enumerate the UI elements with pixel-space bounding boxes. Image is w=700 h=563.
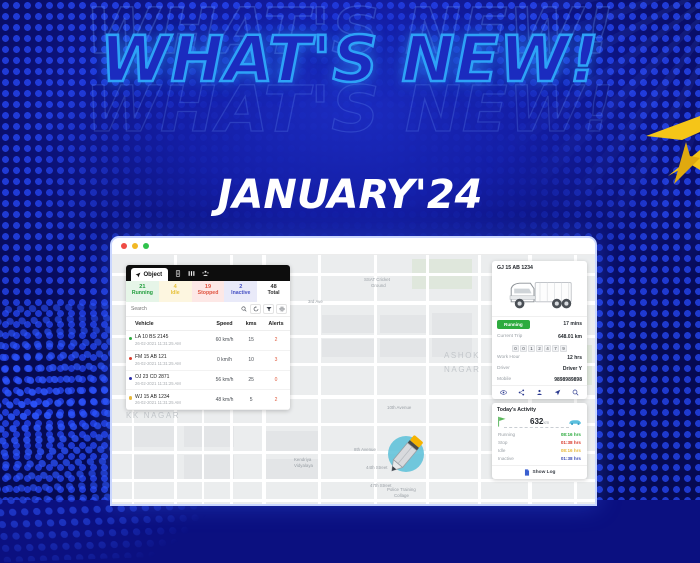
kms-cell: 25	[240, 370, 262, 390]
window-titlebar	[112, 238, 595, 255]
map-label: 3rd Ave	[308, 299, 323, 304]
todays-activity-card: Today's Activity 632km Ru	[492, 403, 587, 479]
map-label: SSAT Cricket	[364, 277, 390, 282]
status-badge: Running	[497, 320, 530, 329]
activity-row-label: Stop	[498, 440, 507, 445]
odometer-digit: 4	[544, 345, 551, 353]
vehicle-table-body: LA 10 BS 2145 26-02-2021 11:31:25 AM 60 …	[126, 331, 290, 410]
odometer-digit: 1	[528, 345, 535, 353]
map-block	[262, 431, 318, 451]
vehicle-name: LA 10 BS 2145	[135, 334, 207, 341]
lightning-bolt-icon	[634, 98, 700, 184]
refresh-icon[interactable]	[250, 304, 261, 314]
status-label: Inactive	[224, 290, 257, 297]
tab-object-label: Object	[144, 272, 163, 278]
col-vehicle: Vehicle	[126, 317, 209, 331]
status-label: Total	[257, 290, 290, 297]
kms-cell: 15	[240, 331, 262, 351]
kms-cell: 10	[240, 350, 262, 370]
map-block	[380, 339, 426, 357]
window-maximize-button[interactable]	[143, 243, 149, 249]
odometer-digit: 9	[560, 345, 567, 353]
status-dot	[129, 357, 132, 360]
activity-row: Running 08:16 hrs	[492, 430, 587, 438]
status-count: 2	[224, 284, 257, 291]
work-hour-value: 12 hrs	[567, 355, 582, 361]
driver-label: Driver	[497, 366, 510, 372]
driver-value: Driver Y	[563, 366, 582, 372]
search-row	[126, 302, 290, 317]
vehicle-name: OJ 23 CD 2871	[135, 374, 207, 381]
speed-cell: 56 km/h	[209, 370, 241, 390]
status-dot	[129, 396, 132, 399]
activity-distance-value: 632	[530, 417, 543, 426]
map-road	[112, 499, 595, 502]
vehicle-detail-card: GJ 15 AB 1234	[492, 261, 587, 399]
speed-cell: 60 km/h	[209, 331, 241, 351]
status-dot	[129, 337, 132, 340]
hero-title-echo-bottom: WHAT'S NEW!	[0, 78, 700, 141]
vehicle-timestamp: 26-02-2021 11:31:25 AM	[135, 400, 207, 406]
status-dot	[129, 377, 132, 380]
map-label: Vidyalaya	[294, 463, 313, 468]
status-count: 19	[192, 284, 225, 291]
status-label: Running	[126, 290, 159, 297]
map-label: KK NAGAR	[126, 411, 180, 420]
odometer-display: 0012479	[492, 343, 587, 353]
odometer-digit: 0	[512, 345, 519, 353]
map-road	[478, 255, 481, 506]
vehicle-cell: WJ 15 AB 1234 26-02-2021 11:31:25 AM	[126, 390, 209, 410]
window-close-button[interactable]	[121, 243, 127, 249]
status-idle[interactable]: 4 Idle	[159, 281, 192, 302]
activity-row-value: 01:38 hrs	[561, 456, 581, 461]
col-speed: Speed	[209, 317, 241, 331]
settings-icon[interactable]	[276, 304, 287, 314]
truck-image	[492, 272, 587, 316]
person-icon[interactable]	[536, 389, 543, 396]
status-label: Stopped	[192, 290, 225, 297]
mobile-row: Mobile 9898989898	[492, 374, 587, 385]
hero-title-block: WHAT'S NEW! WHAT'S NEW! WHAT'S NEW!	[0, 28, 700, 91]
map-block	[132, 425, 176, 447]
activity-progress: 632km	[492, 415, 587, 430]
activity-row-label: Inactive	[498, 456, 514, 461]
map-block	[380, 315, 426, 333]
odometer-digit: 0	[520, 345, 527, 353]
people-icon[interactable]	[202, 270, 209, 277]
show-log-button[interactable]: Show Log	[492, 465, 587, 479]
map-label: Collage	[394, 493, 409, 498]
map-label: 10th Avenue	[387, 405, 411, 410]
columns-icon[interactable]	[188, 270, 195, 277]
speed-cell: 0 km/h	[209, 350, 241, 370]
activity-row-value: 01:38 hrs	[561, 440, 581, 445]
window-minimize-button[interactable]	[132, 243, 138, 249]
map-road	[318, 255, 321, 506]
col-alerts: Alerts	[262, 317, 290, 331]
table-header-row: Vehicle Speed kms Alerts	[126, 317, 290, 331]
current-trip-value: 648.01 km	[558, 334, 582, 340]
status-count: 4	[159, 284, 192, 291]
table-row[interactable]: OJ 23 CD 2871 26-02-2021 11:31:25 AM 56 …	[126, 370, 290, 390]
speed-cell: 48 km/h	[209, 390, 241, 410]
hero-subtitle-month: JANUARY'24	[0, 172, 700, 218]
alerts-cell: 0	[262, 370, 290, 390]
vehicle-actions-row	[492, 385, 587, 399]
map-label: Kendriya	[294, 457, 311, 462]
vehicle-table: Vehicle Speed kms Alerts LA 10 BS 2145 2…	[126, 317, 290, 410]
navigate-icon[interactable]	[554, 389, 561, 396]
activity-row-value: 08:16 hrs	[561, 448, 581, 453]
search-icon[interactable]	[239, 304, 248, 314]
activity-distance: 632km	[530, 417, 549, 426]
zoom-icon[interactable]	[572, 389, 579, 396]
status-inactive[interactable]: 2 Inactive	[224, 281, 257, 302]
pencil-icon	[380, 430, 432, 482]
activity-distance-unit: km	[543, 420, 549, 425]
work-hour-label: Work Hour	[497, 355, 520, 361]
car-icon	[568, 418, 582, 426]
tab-object[interactable]: Object	[131, 268, 168, 281]
laptop-mockup: 16th Street 3rd Ave SSAT Cricket Ground …	[110, 236, 597, 506]
search-input[interactable]	[129, 306, 237, 312]
navigation-icon	[135, 272, 141, 278]
filter-icon[interactable]	[263, 304, 274, 314]
map-block	[132, 455, 176, 479]
vehicle-status-row: Running 17 mins	[492, 316, 587, 332]
driver-row: Driver Driver Y	[492, 363, 587, 374]
current-trip-label: Current Trip	[497, 334, 522, 340]
document-icon	[524, 469, 530, 476]
alerts-cell: 2	[262, 390, 290, 410]
map-block	[184, 455, 234, 479]
activity-row-value: 08:16 hrs	[561, 432, 581, 437]
odometer-digit: 7	[552, 345, 559, 353]
mobile-label: Mobile	[497, 377, 511, 383]
kms-cell: 5	[240, 390, 262, 410]
activity-row: Idle 08:16 hrs	[492, 446, 587, 454]
activity-title: Today's Activity	[492, 403, 587, 415]
show-log-label: Show Log	[533, 470, 556, 475]
table-row[interactable]: LA 10 BS 2145 26-02-2021 11:31:25 AM 60 …	[126, 331, 290, 351]
share-icon[interactable]	[518, 389, 525, 396]
map-label: Police Training	[387, 487, 416, 492]
map-label: 8th Avenue	[354, 447, 376, 452]
vehicle-cell: LA 10 BS 2145 26-02-2021 11:31:25 AM	[126, 331, 209, 351]
status-count: 21	[126, 284, 159, 291]
work-hour-row: Work Hour 12 hrs	[492, 352, 587, 363]
map-label: ASHOK	[444, 351, 480, 360]
flag-icon	[497, 416, 507, 427]
activity-row-label: Running	[498, 432, 515, 437]
map-label: Ground	[371, 283, 386, 288]
status-running[interactable]: 21 Running	[126, 281, 159, 302]
vehicle-cell: OJ 23 CD 2871 26-02-2021 11:31:25 AM	[126, 370, 209, 390]
map-road	[202, 395, 204, 506]
col-kms: kms	[240, 317, 262, 331]
status-stopped[interactable]: 19 Stopped	[192, 281, 225, 302]
truck-icon	[504, 275, 576, 313]
map-block	[184, 425, 234, 447]
vehicle-name: FM 15 AB 121	[135, 354, 207, 361]
table-row[interactable]: WJ 15 AB 1234 26-02-2021 11:31:25 AM 48 …	[126, 390, 290, 410]
map-block	[322, 315, 374, 333]
map-block	[322, 339, 374, 357]
app-viewport: 16th Street 3rd Ave SSAT Cricket Ground …	[112, 255, 595, 506]
vehicle-timestamp: 26-02-2021 11:31:25 AM	[135, 381, 207, 387]
vehicle-timestamp: 26-02-2021 11:31:25 AM	[135, 341, 207, 347]
eye-icon[interactable]	[500, 389, 507, 396]
object-panel: Object	[126, 265, 290, 410]
status-label: Idle	[159, 290, 192, 297]
status-total[interactable]: 48 Total	[257, 281, 290, 302]
vehicle-timestamp: 26-02-2021 11:31:25 AM	[135, 361, 207, 367]
alerts-cell: 2	[262, 331, 290, 351]
vehicle-cell: FM 15 AB 121 26-02-2021 11:31:25 AM	[126, 350, 209, 370]
map-road	[112, 479, 595, 482]
alerts-cell: 3	[262, 350, 290, 370]
activity-row: Stop 01:38 hrs	[492, 438, 587, 446]
odometer-digit: 2	[536, 345, 543, 353]
vehicle-table-head: Vehicle Speed kms Alerts	[126, 317, 290, 331]
status-summary-bar: 21 Running 4 Idle 19 Stopped 2 Inactive …	[126, 281, 290, 302]
list-icon[interactable]	[175, 270, 181, 277]
vehicle-name: WJ 15 AB 1234	[135, 394, 207, 401]
detail-panel: GJ 15 AB 1234	[492, 261, 587, 479]
activity-row: Inactive 01:38 hrs	[492, 455, 587, 463]
status-count: 48	[257, 284, 290, 291]
panel-tabbar: Object	[126, 265, 290, 281]
status-duration: 17 mins	[563, 321, 582, 327]
activity-row-label: Idle	[498, 448, 505, 453]
vehicle-plate: GJ 15 AB 1234	[492, 261, 587, 272]
map-label: NAGAR	[444, 365, 480, 374]
progress-dashed-line	[504, 427, 569, 428]
activity-breakdown: Running 08:16 hrs Stop 01:38 hrs Idle 08…	[492, 430, 587, 463]
current-trip-row: Current Trip 648.01 km	[492, 332, 587, 343]
table-row[interactable]: FM 15 AB 121 26-02-2021 11:31:25 AM 0 km…	[126, 350, 290, 370]
mobile-value: 9898989898	[554, 377, 582, 383]
map-pen-marker[interactable]	[380, 430, 432, 482]
